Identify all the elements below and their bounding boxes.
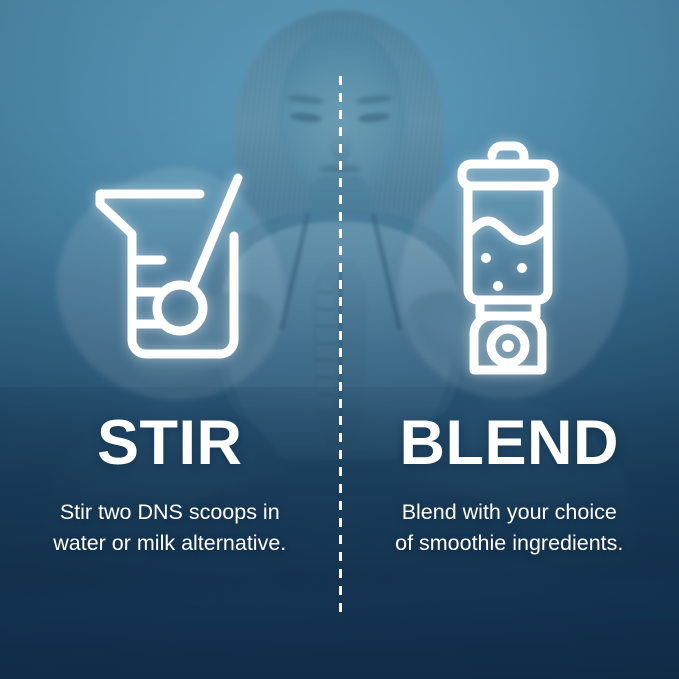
headline-stir: STIR	[0, 412, 340, 475]
panel-stir: STIR Stir two DNS scoops in water or mil…	[0, 412, 340, 558]
body-stir-line-2: water or milk alternative.	[0, 528, 340, 559]
body-blend-line-2: of smoothie ingredients.	[340, 528, 679, 559]
body-blend-line-1: Blend with your choice	[340, 497, 679, 528]
body-stir-line-1: Stir two DNS scoops in	[0, 497, 340, 528]
blender-icon	[434, 138, 582, 378]
panel-blend: BLEND Blend with your choice of smoothie…	[340, 412, 679, 558]
headline-blend: BLEND	[340, 412, 679, 475]
body-stir: Stir two DNS scoops in water or milk alt…	[0, 497, 340, 558]
measuring-beaker-with-stirrer-icon	[88, 176, 284, 376]
body-blend: Blend with your choice of smoothie ingre…	[340, 497, 679, 558]
instruction-graphic: STIR Stir two DNS scoops in water or mil…	[0, 0, 679, 679]
